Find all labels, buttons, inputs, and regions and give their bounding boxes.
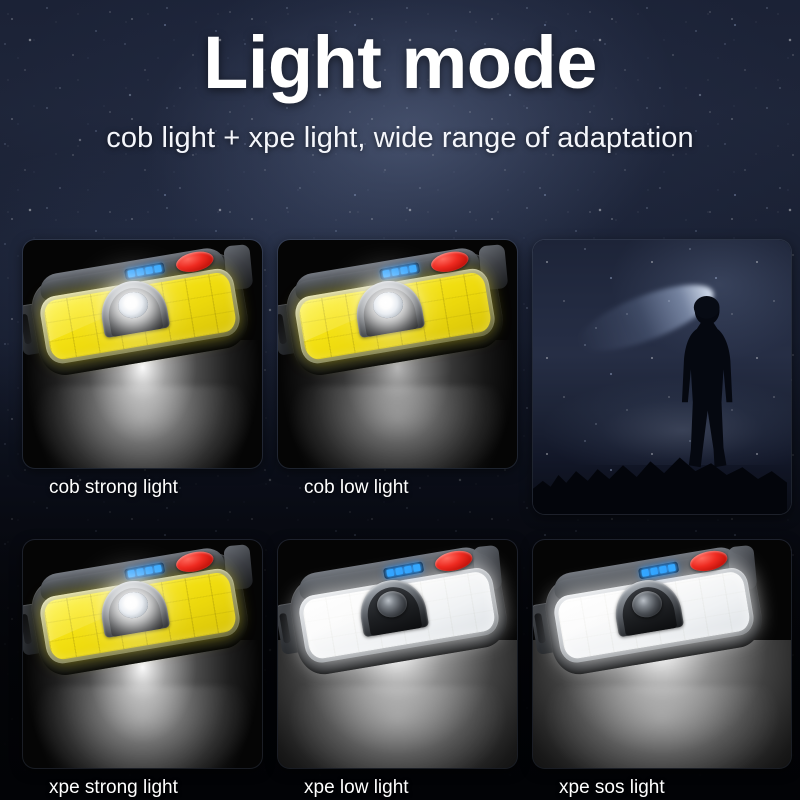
mode-caption: xpe sos light (533, 777, 791, 799)
mode-cell-xpe-low-light[interactable]: xpe low light (278, 540, 517, 799)
mode-caption: xpe strong light (23, 777, 262, 799)
headlamp-device (278, 240, 517, 406)
page-title: Light mode (0, 26, 800, 100)
battery-led (641, 569, 649, 577)
xpe-lens-housing (97, 276, 171, 338)
mode-panel-xpe-sos-light (533, 540, 791, 768)
xpe-lens-housing (611, 575, 685, 637)
battery-led (382, 270, 390, 278)
battery-led (145, 566, 153, 574)
header-block: Light mode cob light + xpe light, wide r… (0, 0, 800, 155)
battery-led (413, 564, 421, 572)
xpe-lens-housing (97, 576, 171, 638)
mode-caption: cob low light (278, 477, 517, 499)
battery-led (391, 268, 399, 276)
battery-led (154, 565, 162, 573)
mode-cell-xpe-sos-light[interactable]: xpe sos light (533, 540, 791, 799)
mode-panel-cob-strong-light (23, 240, 262, 468)
headlamp-device (23, 540, 262, 706)
battery-led (386, 569, 394, 577)
product-feature-image: Light mode cob light + xpe light, wide r… (0, 0, 800, 800)
battery-led (400, 266, 408, 274)
battery-led (127, 570, 135, 578)
battery-led (395, 567, 403, 575)
battery-led (668, 564, 676, 572)
headlamp-device (533, 540, 768, 705)
battery-led (136, 268, 144, 276)
mode-panel-xpe-low-light (278, 540, 517, 768)
page-subtitle: cob light + xpe light, wide range of ada… (0, 122, 800, 155)
hero-panel (533, 240, 791, 514)
mountain-ridge-silhouette (533, 432, 787, 514)
mode-row-bottom: xpe strong light (23, 540, 791, 799)
headlamp-device (278, 540, 513, 705)
battery-led (127, 270, 135, 278)
mode-row-top: cob strong light (23, 240, 791, 523)
battery-led (145, 266, 153, 274)
battery-led (136, 568, 144, 576)
mode-panel-cob-low-light (278, 240, 517, 468)
battery-led (404, 565, 412, 573)
mode-panel-xpe-strong-light (23, 540, 262, 768)
headlamp-device (23, 240, 262, 406)
mode-caption: xpe low light (278, 777, 517, 799)
mode-cell-cob-strong-light[interactable]: cob strong light (23, 240, 262, 523)
hero-cell-night-scene (533, 240, 791, 523)
mode-caption: cob strong light (23, 477, 262, 499)
mode-cell-xpe-strong-light[interactable]: xpe strong light (23, 540, 262, 799)
night-scene-photo (533, 240, 791, 514)
xpe-lens-housing (352, 276, 426, 338)
xpe-lens-housing (356, 575, 430, 637)
battery-led (409, 265, 417, 273)
battery-led (154, 265, 162, 273)
mode-grid: cob strong light (23, 240, 791, 799)
mode-cell-cob-low-light[interactable]: cob low light (278, 240, 517, 523)
battery-led (650, 567, 658, 575)
battery-led (659, 565, 667, 573)
